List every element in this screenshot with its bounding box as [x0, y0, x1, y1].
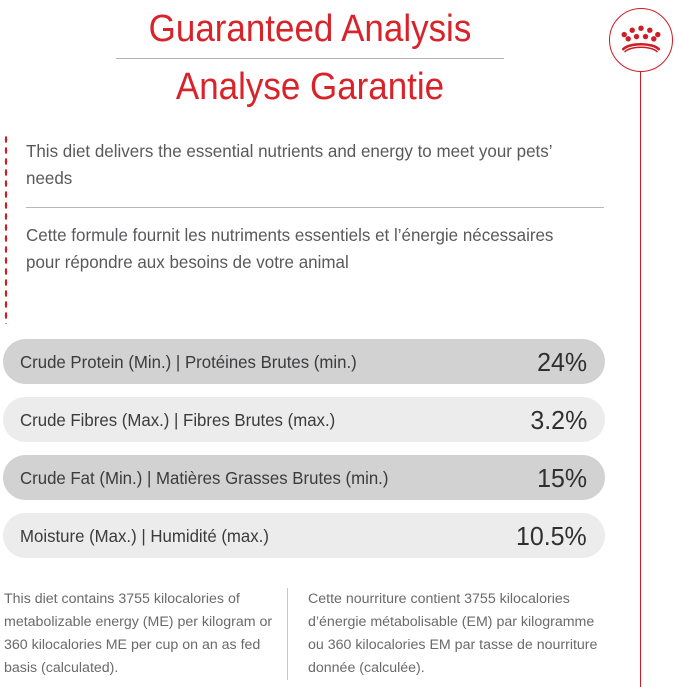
- nutrient-value: 3.2%: [530, 406, 587, 434]
- intro-block: This diet delivers the essential nutrien…: [26, 138, 608, 276]
- nutrient-list: Crude Protein (Min.) | Protéines Brutes …: [3, 339, 605, 571]
- intro-text-english: This diet delivers the essential nutrien…: [26, 138, 591, 192]
- page-title: Guaranteed Analysis Analyse Garantie: [0, 6, 620, 110]
- nutrient-value: 10.5%: [516, 522, 587, 550]
- nutrient-row-crude-protein: Crude Protein (Min.) | Protéines Brutes …: [3, 339, 605, 384]
- footer-text-english: This diet contains 3755 kilocalories of …: [4, 588, 287, 680]
- nutrient-row-crude-fibres: Crude Fibres (Max.) | Fibres Brutes (max…: [3, 397, 605, 442]
- title-french: Analyse Garantie: [25, 64, 595, 110]
- title-divider: [116, 58, 504, 59]
- royal-canin-crown-icon: [620, 24, 662, 54]
- title-english: Guaranteed Analysis: [25, 6, 595, 52]
- guaranteed-analysis-panel: Guaranteed Analysis Analyse Garantie Thi…: [0, 0, 679, 687]
- footer-text-french: Cette nourriture contient 3755 kilocalor…: [288, 588, 610, 680]
- nutrient-value: 24%: [537, 348, 587, 376]
- logo-stem-line: [640, 71, 641, 687]
- nutrient-value: 15%: [537, 464, 587, 492]
- calorie-footer: This diet contains 3755 kilocalories of …: [4, 588, 629, 680]
- nutrient-row-crude-fat: Crude Fat (Min.) | Matières Grasses Brut…: [3, 455, 605, 500]
- dotted-accent-rail: [4, 134, 8, 324]
- nutrient-label: Crude Fat (Min.) | Matières Grasses Brut…: [20, 467, 388, 489]
- nutrient-label: Crude Fibres (Max.) | Fibres Brutes (max…: [20, 409, 335, 431]
- nutrient-label: Crude Protein (Min.) | Protéines Brutes …: [20, 351, 357, 373]
- nutrient-row-moisture: Moisture (Max.) | Humidité (max.) 10.5%: [3, 513, 605, 558]
- nutrient-label: Moisture (Max.) | Humidité (max.): [20, 525, 269, 547]
- intro-divider: [26, 207, 604, 208]
- intro-text-french: Cette formule fournit les nutriments ess…: [26, 222, 591, 276]
